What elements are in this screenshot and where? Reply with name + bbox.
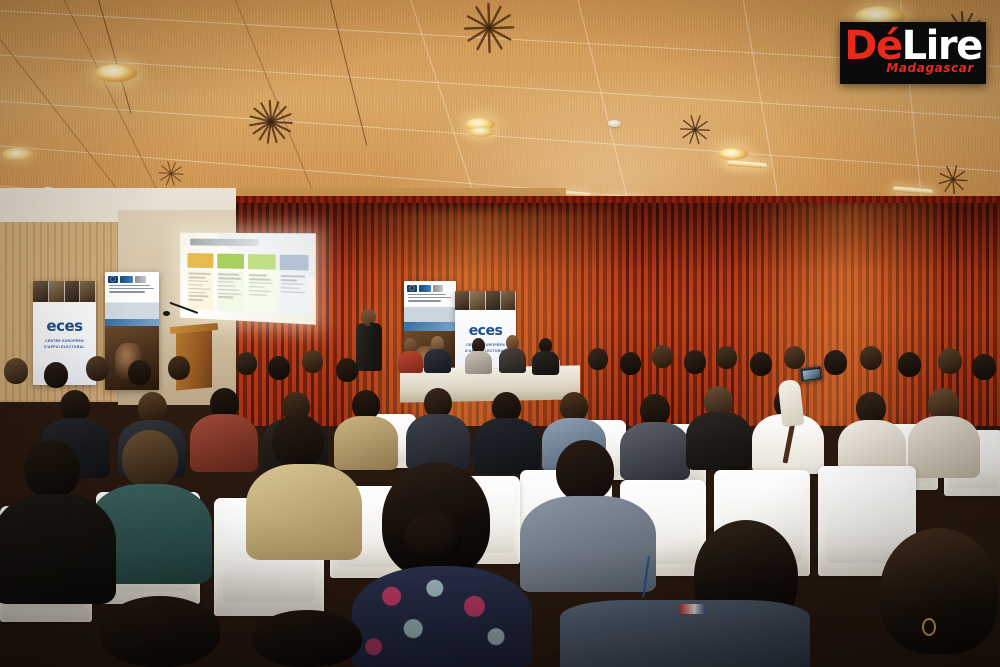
banner-photo-strip	[455, 291, 516, 310]
slide-column	[280, 255, 309, 316]
projection-screen	[180, 233, 316, 325]
floral-dress	[352, 566, 532, 667]
recessed-downlight	[718, 148, 748, 160]
starburst-air-diffuser	[157, 166, 185, 181]
hoop-earring	[922, 618, 936, 636]
slide-column-body	[248, 272, 276, 313]
standing-speaker-body	[356, 323, 382, 371]
partner-logo-2	[433, 285, 443, 292]
eces-wordmark: eces	[455, 324, 516, 338]
slide-column	[217, 254, 244, 312]
recessed-downlight	[2, 148, 34, 161]
slide-columns	[188, 253, 309, 315]
starburst-air-diffuser	[246, 109, 295, 134]
slide-column	[248, 254, 276, 313]
hair-bun	[404, 512, 462, 562]
eces-tagline-line-1: CENTRE EUROPÉEN	[33, 339, 96, 344]
slide-column	[188, 253, 214, 310]
banner-logo-row	[105, 272, 159, 283]
banner-photo-strip	[33, 281, 96, 302]
photograph-canvas: eces CENTRE EUROPÉEN D'APPUI ELECTORAL	[0, 0, 1000, 667]
jacket-patch	[680, 604, 706, 614]
starburst-air-diffuser	[461, 13, 517, 41]
curtain-top-shadow	[236, 196, 1000, 274]
slide-column-header	[217, 254, 244, 269]
grey-shirt	[520, 496, 656, 592]
curtain-rail	[236, 196, 1000, 203]
logo-subtitle: Madagascar	[886, 61, 974, 75]
eces-tagline-line-2: D'APPUI ELECTORAL	[33, 345, 96, 350]
delire-madagascar-logo: DéLire Madagascar	[840, 22, 986, 84]
eces-wordmark: eces	[33, 319, 96, 334]
recessed-downlight	[95, 64, 137, 82]
lectern-microphone-head	[163, 311, 170, 316]
slide-column-header	[280, 255, 309, 271]
partner-logo	[120, 276, 133, 283]
smoke-detector	[608, 120, 621, 127]
slide-title-bar	[190, 239, 259, 247]
slide-column-body	[217, 271, 244, 312]
partner-logo	[419, 285, 431, 292]
slide-column-body	[280, 273, 309, 315]
slide-column-header	[248, 254, 276, 270]
partner-logo-2	[135, 276, 146, 283]
banner-logo-row	[404, 281, 456, 292]
smartphone	[799, 366, 823, 383]
slide-column-header	[188, 253, 214, 268]
logo-wordmark: DéLire	[844, 28, 981, 65]
eu-flag-logo	[108, 276, 118, 283]
stage-curtain	[236, 196, 1000, 426]
starburst-air-diffuser	[936, 170, 969, 188]
starburst-air-diffuser	[678, 121, 712, 138]
eu-flag-logo	[407, 285, 417, 292]
recessed-downlight	[468, 126, 494, 137]
slide-column-body	[188, 271, 214, 311]
